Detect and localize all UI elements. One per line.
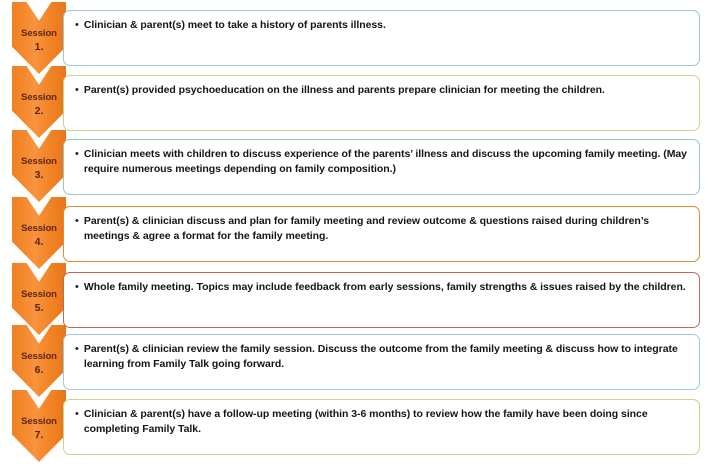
session-marker-number: 4. — [35, 237, 44, 249]
session-marker-7: Session7. — [12, 390, 66, 462]
session-callout-text: Parent(s) & clinician discuss and plan f… — [84, 214, 689, 243]
session-marker-number: 1. — [35, 42, 44, 54]
bullet-icon: • — [73, 18, 84, 32]
session-callout-text: Parent(s) provided psychoeducation on th… — [84, 83, 689, 98]
session-callout-1: •Clinician & parent(s) meet to take a hi… — [63, 10, 700, 66]
session-marker-6: Session6. — [12, 325, 66, 397]
session-marker-number: 5. — [35, 303, 44, 315]
session-marker-5: Session5. — [12, 263, 66, 335]
bullet-icon: • — [73, 214, 84, 228]
session-callout-5: •Whole family meeting. Topics may includ… — [63, 272, 700, 328]
session-marker-label: Session — [21, 224, 57, 234]
session-marker-number: 7. — [35, 430, 44, 442]
session-marker-1: Session1. — [12, 2, 66, 74]
session-flowchart: Session1.•Clinician & parent(s) meet to … — [0, 0, 708, 475]
session-callout-7: •Clinician & parent(s) have a follow-up … — [63, 399, 700, 455]
session-marker-label: Session — [21, 157, 57, 167]
session-marker-4: Session4. — [12, 197, 66, 269]
session-callout-3: •Clinician meets with children to discus… — [63, 139, 700, 195]
bullet-icon: • — [73, 83, 84, 97]
session-marker-label: Session — [21, 93, 57, 103]
session-marker-label: Session — [21, 417, 57, 427]
bullet-icon: • — [73, 342, 84, 356]
session-callout-text: Parent(s) & clinician review the family … — [84, 342, 689, 371]
session-marker-label: Session — [21, 352, 57, 362]
session-callout-text: Clinician meets with children to discuss… — [84, 147, 689, 176]
session-callout-text: Clinician & parent(s) have a follow-up m… — [84, 407, 689, 436]
session-marker-number: 2. — [35, 106, 44, 118]
session-callout-2: •Parent(s) provided psychoeducation on t… — [63, 75, 700, 131]
session-marker-number: 6. — [35, 365, 44, 377]
session-marker-2: Session2. — [12, 66, 66, 138]
bullet-icon: • — [73, 280, 84, 294]
bullet-icon: • — [73, 407, 84, 421]
bullet-icon: • — [73, 147, 84, 161]
session-marker-label: Session — [21, 29, 57, 39]
session-marker-label: Session — [21, 290, 57, 300]
session-callout-text: Whole family meeting. Topics may include… — [84, 280, 689, 295]
session-callout-text: Clinician & parent(s) meet to take a his… — [84, 18, 689, 33]
session-callout-4: •Parent(s) & clinician discuss and plan … — [63, 206, 700, 262]
session-callout-6: •Parent(s) & clinician review the family… — [63, 334, 700, 390]
session-marker-3: Session3. — [12, 130, 66, 202]
session-marker-number: 3. — [35, 170, 44, 182]
